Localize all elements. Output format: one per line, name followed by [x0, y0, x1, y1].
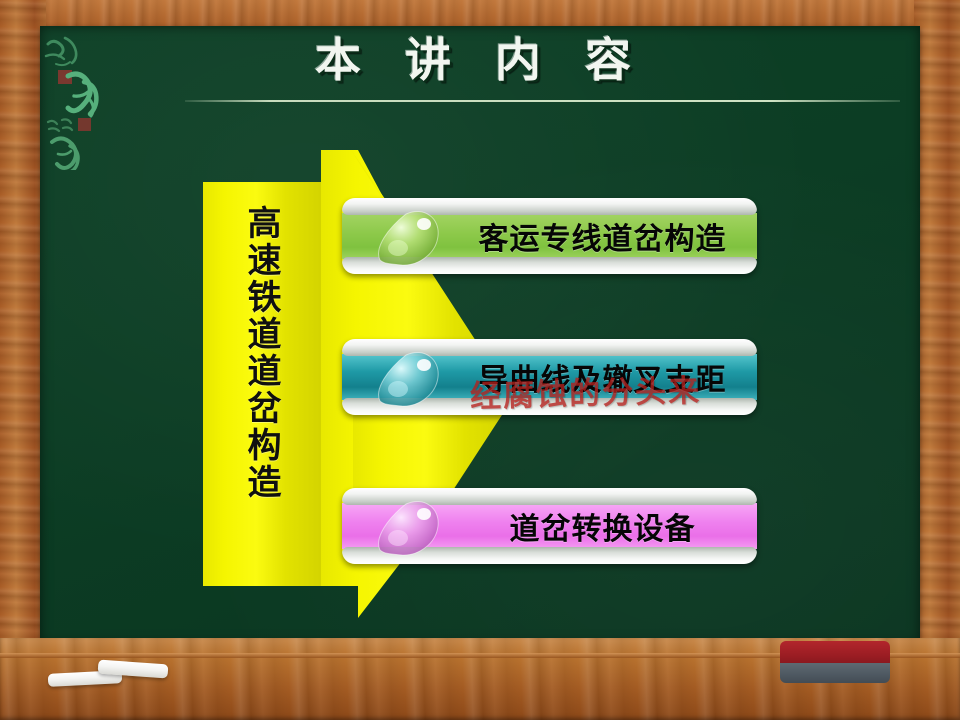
content-item-2-label: 导曲线及辙叉支距	[462, 339, 743, 415]
water-drop-icon	[372, 345, 444, 409]
page-title: 本 讲 内 容	[315, 24, 645, 90]
content-item-2[interactable]: 导曲线及辙叉支距	[342, 339, 757, 415]
board-eraser-top	[780, 641, 890, 665]
sidebar-vertical-title: 高速铁道道岔构造	[217, 205, 279, 501]
slide-title-area: 本 讲 内 容	[0, 24, 960, 90]
water-drop-icon	[372, 494, 444, 558]
title-divider	[185, 100, 900, 102]
wooden-frame-right	[914, 0, 960, 720]
content-item-3[interactable]: 道岔转换设备	[342, 488, 757, 564]
board-eraser[interactable]	[780, 641, 890, 683]
water-drop-icon	[372, 204, 444, 268]
content-item-3-label: 道岔转换设备	[462, 488, 743, 564]
presentation-slide: 本 讲 内 容 高速铁	[0, 0, 960, 720]
board-eraser-felt	[780, 663, 890, 683]
content-item-1[interactable]: 客运专线道岔构造	[342, 198, 757, 274]
content-item-1-label: 客运专线道岔构造	[462, 198, 743, 274]
